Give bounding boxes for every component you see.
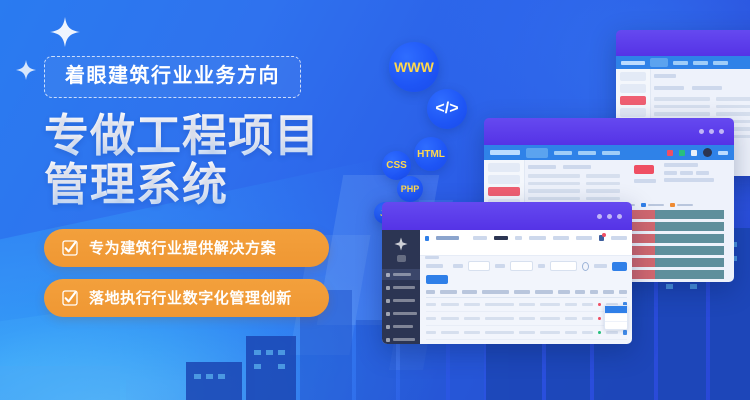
context-menu-item-2[interactable]: [605, 313, 627, 321]
table-row: [528, 174, 626, 178]
sidebar-item-label: [393, 325, 413, 328]
nav-tab-middle-3[interactable]: [578, 151, 596, 155]
filter-field-label-2: [495, 264, 505, 268]
table-row: [528, 182, 626, 186]
sidebar-item-front-5[interactable]: [382, 321, 420, 332]
tab-item[interactable]: [425, 256, 439, 259]
feature-pill-1[interactable]: 专为建筑行业提供解决方案: [44, 229, 329, 267]
row-action-icon[interactable]: [623, 330, 628, 335]
sparkle-large-icon: [50, 17, 80, 47]
sidebar-item-label: [393, 338, 415, 341]
bubble-php: PHP: [397, 176, 423, 202]
sidebar-item-label: [393, 312, 417, 315]
sidebar-item-label: [393, 273, 411, 276]
nav-tab-middle-2[interactable]: [554, 151, 572, 155]
breadcrumb: [436, 236, 459, 240]
table-row[interactable]: [426, 340, 627, 345]
header-bar-front: [420, 230, 632, 247]
header-menu-1[interactable]: [473, 236, 487, 240]
header-user[interactable]: [611, 236, 627, 240]
window-dot-1: [597, 214, 602, 219]
nav-icon-status[interactable]: [679, 150, 685, 156]
status-badge: [598, 331, 601, 334]
nav-tab-back-3[interactable]: [693, 61, 708, 65]
data-table-front: [426, 290, 627, 344]
sidebar-item-front-4[interactable]: [382, 308, 420, 319]
sparkle-small-icon: [16, 60, 36, 80]
sidebar-item-front-6[interactable]: [382, 334, 420, 344]
sidebar-icon: [386, 273, 390, 277]
sidebar-item-back-active[interactable]: [620, 96, 646, 105]
chevron-down-icon[interactable]: [515, 236, 521, 240]
window-controls-front[interactable]: [597, 214, 632, 219]
filter-label: [426, 264, 443, 268]
status-badge: [598, 317, 601, 320]
search-icon[interactable]: [582, 262, 589, 271]
header-logo-icon: [425, 236, 429, 241]
feature-pill-2-label: 落地执行行业数字化管理创新: [89, 291, 292, 306]
table-row[interactable]: [426, 326, 627, 340]
window-dot-2: [709, 129, 714, 134]
notification-bell-icon[interactable]: [599, 235, 604, 241]
table-header-middle-2: [563, 165, 591, 169]
filter-field-label-1: [453, 264, 463, 268]
context-menu-item-active[interactable]: [605, 306, 627, 313]
sidebar-item-front-1[interactable]: [382, 269, 420, 280]
sidebar-item-label: [393, 299, 415, 302]
feature-list: 专为建筑行业提供解决方案 落地执行行业数字化管理创新: [44, 229, 374, 317]
headline-line-2: 管理系统: [44, 161, 374, 210]
nav-logo-back: [621, 61, 645, 65]
table-header-back-2: [692, 86, 722, 90]
sidebar-item-middle-2[interactable]: [488, 175, 520, 184]
window-titlebar-middle: [484, 118, 734, 145]
search-input[interactable]: [550, 261, 577, 271]
app-logo-icon: [394, 237, 408, 251]
sidebar-item-back-4[interactable]: [620, 108, 646, 117]
sidebar-item-label: [393, 286, 415, 289]
window-dot-3: [617, 214, 622, 219]
tech-keyword-bubbles: WWW </> HTML CSS PHP JS 0: [378, 34, 498, 214]
sidebar-item-front-3[interactable]: [382, 295, 420, 306]
legend-item-2: [641, 203, 664, 207]
table-row[interactable]: [426, 312, 627, 326]
headline-copy-block: 着眼建筑行业业务方向 专做工程项目 管理系统 专为建筑行业提供解决方案: [44, 56, 374, 329]
feature-pill-1-label: 专为建筑行业提供解决方案: [89, 241, 276, 256]
subtitle-text: 着眼建筑行业业务方向: [65, 66, 280, 86]
top-nav-middle[interactable]: [484, 145, 734, 160]
table-row: [528, 197, 626, 201]
window-content-front: [382, 230, 632, 344]
filter-select-1[interactable]: [468, 261, 491, 271]
filter-toolbar-front: [426, 261, 627, 271]
sidebar-icon: [386, 338, 390, 342]
nav-tab-active-back[interactable]: [650, 58, 668, 67]
nav-username-middle: [718, 151, 728, 155]
table-header-row: [426, 290, 627, 298]
status-badge: [598, 303, 601, 306]
checkbox-check-icon: [62, 240, 78, 256]
window-dot-2: [607, 214, 612, 219]
search-button[interactable]: [612, 262, 627, 271]
window-controls-middle[interactable]: [699, 129, 734, 134]
table-row: [654, 97, 750, 101]
filter-label-middle: [634, 179, 656, 183]
window-titlebar-front: [382, 202, 632, 230]
table-header-middle-1: [528, 165, 556, 169]
chart-panel-middle: [664, 163, 728, 187]
nav-icon-alert[interactable]: [667, 150, 673, 156]
header-menu-3[interactable]: [553, 236, 569, 240]
sidebar-item-back-1[interactable]: [620, 72, 646, 81]
checkbox-check-icon: [62, 290, 78, 306]
chart-filter-2[interactable]: [680, 171, 693, 175]
content-label-back: [654, 74, 676, 78]
nav-logo-middle: [490, 150, 520, 155]
nav-tab-active-middle[interactable]: [526, 148, 548, 158]
filter-field-label-3: [538, 264, 545, 268]
tab-strip-front[interactable]: [420, 246, 632, 256]
header-menu-active[interactable]: [494, 236, 508, 240]
table-row[interactable]: [426, 298, 627, 312]
context-menu-item-3[interactable]: [605, 321, 627, 329]
context-menu-front[interactable]: [604, 305, 628, 330]
sidebar-item-middle-active[interactable]: [488, 187, 520, 196]
bubble-html: HTML: [414, 137, 448, 171]
sidebar-item-front-2[interactable]: [382, 282, 420, 293]
bubble-www: WWW: [389, 42, 439, 92]
sidebar-item-middle-1[interactable]: [488, 163, 520, 172]
window-titlebar-back: [616, 30, 750, 56]
dashboard-window-front[interactable]: [382, 202, 632, 344]
feature-pill-2[interactable]: 落地执行行业数字化管理创新: [44, 279, 329, 317]
table-row: [654, 112, 750, 116]
header-menu-2[interactable]: [529, 236, 547, 240]
legend-item-3: [670, 203, 693, 207]
sidebar-icon: [386, 299, 390, 303]
table-row: [654, 105, 750, 109]
subtitle-badge: 着眼建筑行业业务方向: [44, 56, 301, 98]
sidebar-collapse-toggle[interactable]: [397, 255, 406, 262]
table-header-back-1: [654, 86, 684, 90]
page-title: 专做工程项目 管理系统: [44, 112, 374, 209]
avatar[interactable]: [703, 148, 712, 157]
window-dot-1: [699, 129, 704, 134]
notification-badge: [602, 233, 606, 237]
sidebar-icon: [386, 325, 390, 329]
sidebar-icon: [386, 286, 390, 290]
top-nav-back[interactable]: [616, 56, 750, 69]
sidebar-front[interactable]: [382, 230, 420, 344]
filter-select-2[interactable]: [510, 261, 533, 271]
nav-tab-middle-4[interactable]: [602, 151, 620, 155]
chart-title: [664, 163, 698, 167]
row-action-icon[interactable]: [623, 344, 628, 345]
nav-icon-settings[interactable]: [691, 150, 697, 156]
nav-tab-back-4[interactable]: [713, 61, 728, 65]
reset-label[interactable]: [594, 264, 607, 268]
sidebar-item-back-2[interactable]: [620, 84, 646, 93]
bubble-code: </>: [427, 89, 467, 129]
chart-filter-3[interactable]: [696, 171, 709, 175]
chart-filter-1[interactable]: [664, 171, 677, 175]
table-row: [528, 189, 626, 193]
add-button-front[interactable]: [426, 275, 448, 284]
nav-tab-back-2[interactable]: [673, 61, 688, 65]
sidebar-icon: [386, 312, 390, 316]
delete-button-middle[interactable]: [634, 165, 654, 174]
promotional-banner: 着眼建筑行业业务方向 专做工程项目 管理系统 专为建筑行业提供解决方案: [0, 0, 750, 400]
chart-subtitle: [664, 178, 714, 182]
headline-line-1: 专做工程项目: [44, 112, 374, 161]
header-menu-4[interactable]: [576, 236, 592, 240]
window-dot-3: [719, 129, 724, 134]
